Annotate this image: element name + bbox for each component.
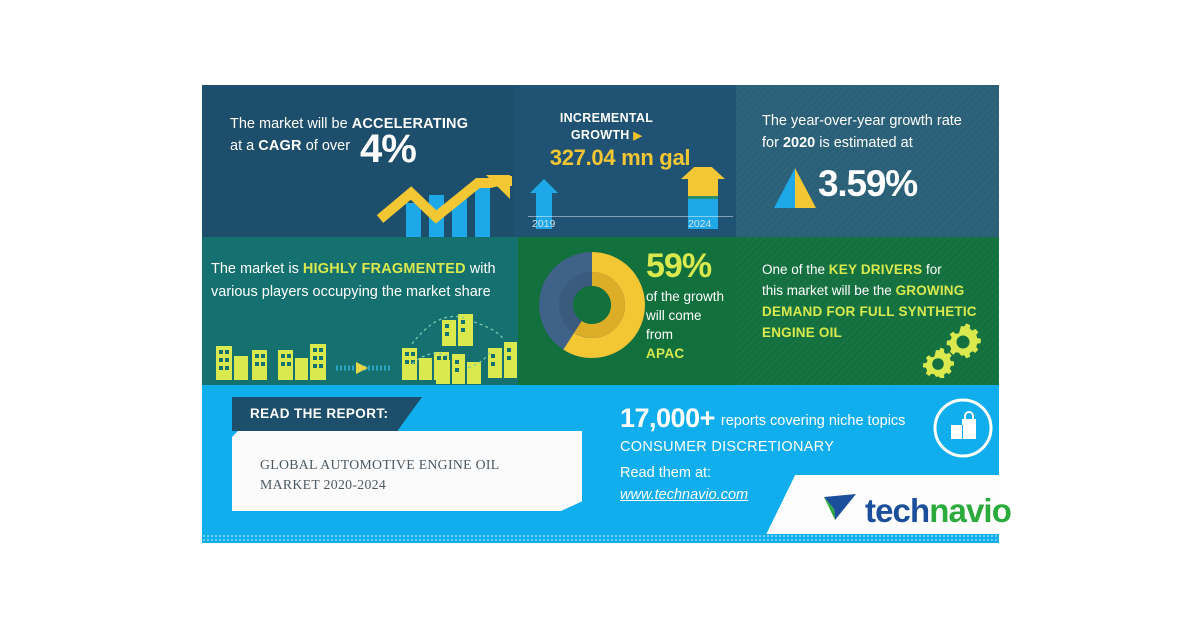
top-row: The market will be ACCELERATING at a CAG… (202, 85, 999, 237)
yoy-line2-pre: for (762, 135, 783, 151)
frag-line1-pre: The market is (211, 261, 303, 277)
footer-dotted-strip (202, 534, 999, 543)
logo-text-tech: tech (865, 492, 929, 529)
technavio-logo[interactable]: technavio (822, 493, 1011, 528)
incremental-year-end: 2024 (688, 218, 711, 230)
cagr-line2-pre: at a (230, 138, 258, 154)
panel-apac-share: 59% of the growth will come from APAC (518, 237, 736, 385)
cagr-line2-bold: CAGR (258, 138, 302, 154)
reports-caption: reports covering niche topics (721, 413, 906, 429)
panel-incremental-growth: INCREMENTAL GROWTH ▶ 327.04 mn gal (514, 85, 736, 237)
driver-line1-bold: KEY DRIVERS (829, 262, 922, 277)
cagr-line1-pre: The market will be (230, 116, 352, 132)
play-triangle-icon: ▶ (633, 130, 642, 142)
apac-region: APAC (646, 346, 684, 361)
frag-line2: various players occupying the market sha… (211, 284, 491, 300)
yoy-value: 3.59% (818, 163, 917, 205)
apac-line2: will come from (646, 308, 702, 342)
reports-count: 17,000+ (620, 403, 715, 433)
driver-line1-pre: One of the (762, 262, 829, 277)
incremental-year-start: 2019 (532, 218, 555, 230)
incremental-title-line2: GROWTH (571, 128, 630, 142)
incremental-title-line1: INCREMENTAL (560, 111, 653, 125)
panel-yoy-growth: The year-over-year growth rate for 2020 … (736, 85, 999, 237)
cagr-text: The market will be ACCELERATING at a CAG… (230, 113, 480, 157)
yoy-line1: The year-over-year growth rate (762, 113, 962, 129)
yoy-text: The year-over-year growth rate for 2020 … (762, 110, 992, 154)
apac-donut-chart (536, 249, 648, 361)
cagr-line2-post: of over (302, 138, 350, 154)
report-card[interactable]: GLOBAL AUTOMOTIVE ENGINE OIL MARKET 2020… (232, 431, 582, 511)
middle-row: The market is HIGHLY FRAGMENTED with var… (202, 237, 999, 385)
report-category: CONSUMER DISCRETIONARY (620, 439, 950, 455)
read-the-report-label: READ THE REPORT: (250, 406, 388, 421)
apac-text: 59% of the growth will come from APAC (646, 247, 732, 363)
driver-line2-pre: this market will be the (762, 283, 896, 298)
driver-line1-post: for (922, 262, 942, 277)
reports-count-line: 17,000+reports covering niche topics (620, 403, 950, 434)
footer-bar: READ THE REPORT: GLOBAL AUTOMOTIVE ENGIN… (202, 385, 999, 543)
city-buildings-fragmentation-icon (206, 312, 518, 384)
panel-key-drivers: One of the KEY DRIVERS for this market w… (736, 237, 999, 385)
frag-line1-post: with (466, 261, 496, 277)
panel-cagr: The market will be ACCELERATING at a CAG… (202, 85, 514, 237)
apac-line1: of the growth (646, 289, 724, 304)
shopping-bags-icon (932, 397, 994, 459)
yoy-line2-bold: 2020 (783, 135, 815, 151)
rising-bar-chart-arrow-icon (374, 173, 514, 237)
yoy-line2-post: is estimated at (815, 135, 913, 151)
incremental-growth-title: INCREMENTAL GROWTH ▶ (514, 110, 699, 145)
cagr-value: 4% (360, 127, 416, 172)
frag-line1-bold: HIGHLY FRAGMENTED (303, 261, 466, 277)
paper-plane-icon (822, 493, 858, 528)
technavio-wordmark: technavio (865, 494, 1011, 527)
panel-fragmentation: The market is HIGHLY FRAGMENTED with var… (202, 237, 518, 385)
apac-percentage: 59% (646, 247, 732, 285)
infographic: The market will be ACCELERATING at a CAG… (202, 85, 999, 543)
growth-triangle-icon (774, 168, 816, 208)
gears-icon (914, 322, 984, 378)
logo-text-navio: navio (929, 492, 1011, 529)
report-title: GLOBAL AUTOMOTIVE ENGINE OIL MARKET 2020… (260, 455, 562, 495)
incremental-chart-axis (528, 216, 733, 217)
technavio-url-link[interactable]: www.technavio.com (620, 487, 748, 503)
fragmentation-text: The market is HIGHLY FRAGMENTED with var… (211, 258, 517, 304)
read-the-report-tab[interactable]: READ THE REPORT: (232, 397, 422, 431)
infographic-canvas: The market will be ACCELERATING at a CAG… (0, 0, 1200, 627)
